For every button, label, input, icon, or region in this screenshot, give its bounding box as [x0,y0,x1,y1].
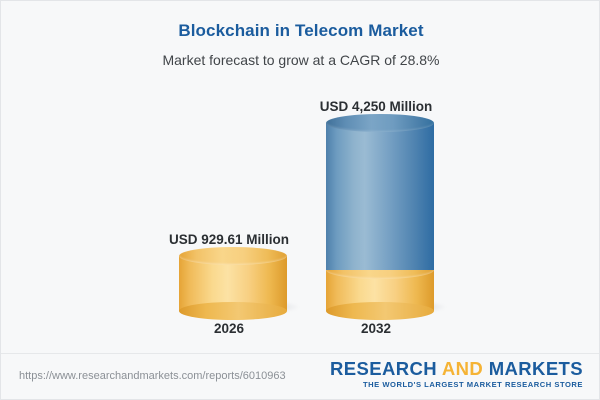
brand-tagline: THE WORLD'S LARGEST MARKET RESEARCH STOR… [330,380,583,389]
bar-value-label-2032: USD 4,250 Million [296,99,456,114]
bar-group-2026: USD 929.61 Million 2026 [149,81,309,346]
bar-category-label-2032: 2032 [296,321,456,336]
market-forecast-infographic: Blockchain in Telecom Market Market fore… [0,0,600,400]
brand-name: RESEARCH AND MARKETS [330,359,583,378]
bar-segment-foot [326,302,434,320]
brand-name-part1: RESEARCH [330,358,442,379]
bar-segment-foot [179,302,287,320]
chart-subtitle: Market forecast to grow at a CAGR of 28.… [1,52,600,68]
chart-plot-area: USD 929.61 Million 2026 USD 4,250 Millio… [1,81,600,346]
brand-logo[interactable]: RESEARCH AND MARKETS THE WORLD'S LARGEST… [330,359,583,389]
bar-group-2032: USD 4,250 Million 2032 [296,81,456,346]
brand-name-part2: MARKETS [483,358,583,379]
footer-divider [1,353,600,354]
bar-value-label-2026: USD 929.61 Million [149,232,309,247]
bar-segment-cap [179,247,287,265]
bar-segment-cap [326,114,434,132]
brand-name-accent: AND [442,358,483,379]
bar-category-label-2026: 2026 [149,321,309,336]
bar-segment-body [326,123,434,270]
bar-cylinder-2032[interactable] [326,123,434,311]
bar-segment-2032-yellow [326,270,434,311]
page-title: Blockchain in Telecom Market [1,21,600,41]
bar-cylinder-2026[interactable] [179,256,287,311]
bar-segment-2032-blue [326,123,434,270]
bar-segment-2026-yellow [179,256,287,311]
source-url[interactable]: https://www.researchandmarkets.com/repor… [19,370,286,382]
